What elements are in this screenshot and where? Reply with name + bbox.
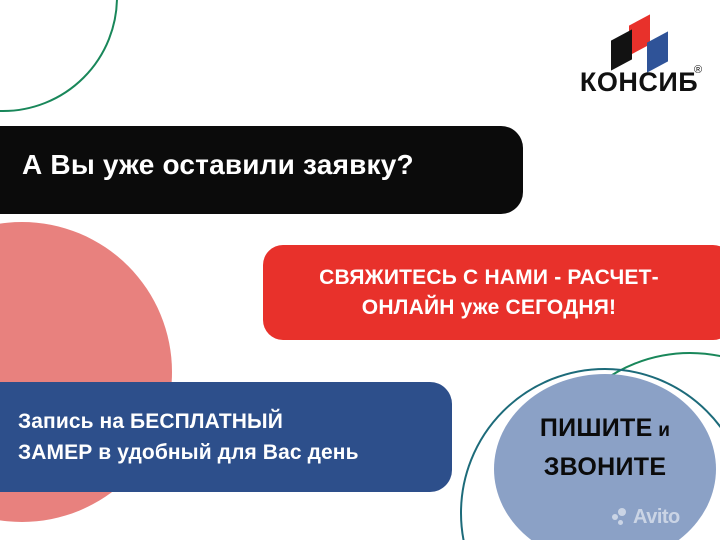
cta-line2: ЗВОНИТЕ	[494, 449, 716, 485]
cta-line1-main: ПИШИТЕ	[540, 414, 653, 442]
cta-write-and-call: ПИШИТЕ и ЗВОНИТЕ	[494, 410, 716, 485]
red-offer-line2: ОНЛАЙН уже СЕГОДНЯ!	[279, 293, 699, 323]
blue-offer-text: Запись на БЕСПЛАТНЫЙ ЗАМЕР в удобный для…	[18, 406, 359, 468]
logo-wordmark: КОНСИБ	[566, 66, 712, 98]
red-offer-line1: СВЯЖИТЕСЬ С НАМИ - РАСЧЕТ-	[319, 266, 659, 289]
red-offer-banner: СВЯЖИТЕСЬ С НАМИ - РАСЧЕТ- ОНЛАЙН уже СЕ…	[263, 245, 720, 340]
avito-watermark-text: Avito	[633, 506, 680, 529]
blue-offer-banner: Запись на БЕСПЛАТНЫЙ ЗАМЕР в удобный для…	[0, 382, 452, 492]
avito-dots-icon	[612, 508, 631, 527]
blue-offer-line1: Запись на БЕСПЛАТНЫЙ	[18, 410, 283, 433]
blue-offer-line2: ЗАМЕР в удобный для Вас день	[18, 437, 359, 468]
logo-mark-icon	[602, 18, 676, 66]
headline-banner: А Вы уже оставили заявку?	[0, 126, 523, 214]
logo-parallelogram-black-icon	[611, 29, 632, 70]
promo-banner: КОНСИБ ® А Вы уже оставили заявку? СВЯЖИ…	[0, 0, 720, 540]
company-logo: КОНСИБ ®	[566, 18, 712, 102]
red-offer-text: СВЯЖИТЕСЬ С НАМИ - РАСЧЕТ- ОНЛАЙН уже СЕ…	[279, 263, 699, 323]
headline-text: А Вы уже оставили заявку?	[22, 149, 414, 181]
avito-watermark: Avito	[612, 506, 680, 529]
cta-line1-conjunction: и	[653, 420, 671, 441]
registered-trademark-icon: ®	[694, 64, 702, 76]
decor-green-ring-top-left	[0, 0, 118, 112]
